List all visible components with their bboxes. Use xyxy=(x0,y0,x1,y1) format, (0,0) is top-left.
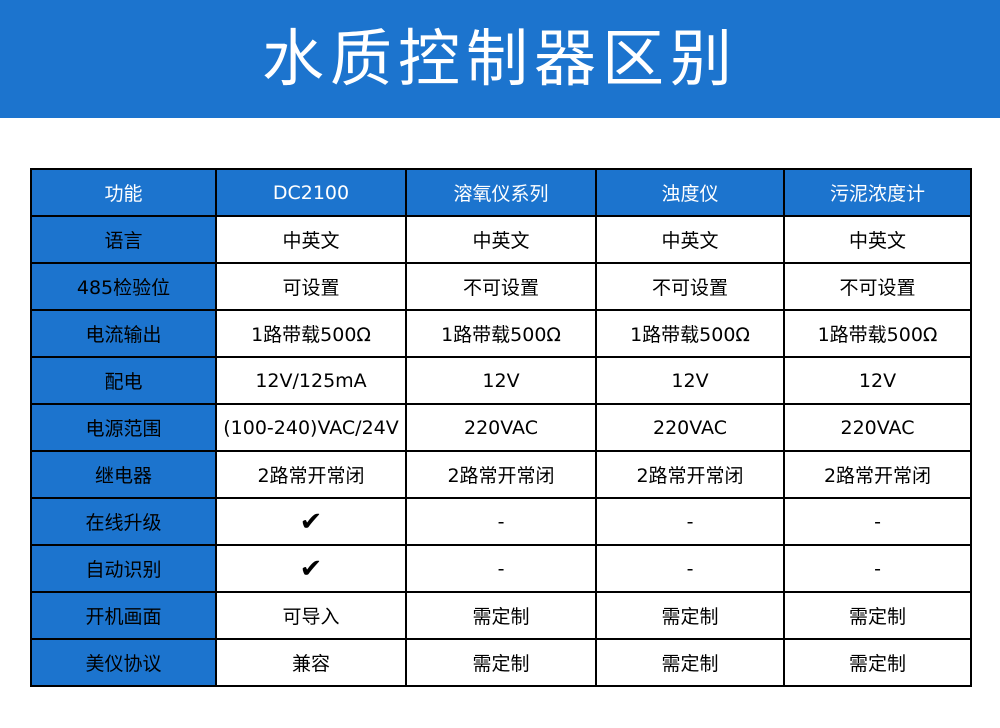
checkmark-icon: ✔ xyxy=(300,556,323,582)
column-header-dc2100: DC2100 xyxy=(216,169,406,216)
table-row: 配电 12V/125mA 12V 12V 12V xyxy=(31,357,971,404)
column-header-do-meter: 溶氧仪系列 xyxy=(406,169,596,216)
row-label-power-distribution: 配电 xyxy=(31,357,216,404)
dash-placeholder: - xyxy=(874,511,881,533)
cell-current-output-sludge: 1路带载500Ω xyxy=(784,310,971,357)
cell-auto-recognition-turbidity: - xyxy=(596,545,784,592)
spec-table-container: 功能 DC2100 溶氧仪系列 浊度仪 污泥浓度计 语言 中英文 中英文 中英文… xyxy=(30,168,970,687)
table-row: 电源范围 (100-240)VAC/24V 220VAC 220VAC 220V… xyxy=(31,404,971,451)
page-banner: 水质控制器区别 xyxy=(0,0,1000,118)
cell-485-parity-sludge: 不可设置 xyxy=(784,263,971,310)
cell-power-range-turbidity: 220VAC xyxy=(596,404,784,451)
dash-placeholder: - xyxy=(498,511,505,533)
cell-boot-screen-do: 需定制 xyxy=(406,592,596,639)
row-label-current-output: 电流输出 xyxy=(31,310,216,357)
cell-power-range-dc2100: (100-240)VAC/24V xyxy=(216,404,406,451)
column-header-turbidity: 浊度仪 xyxy=(596,169,784,216)
table-body: 语言 中英文 中英文 中英文 中英文 485检验位 可设置 不可设置 不可设置 … xyxy=(31,216,971,686)
cell-boot-screen-turbidity: 需定制 xyxy=(596,592,784,639)
table-row: 在线升级 ✔ - - - xyxy=(31,498,971,545)
row-label-power-range: 电源范围 xyxy=(31,404,216,451)
cell-relay-do: 2路常开常闭 xyxy=(406,451,596,498)
page-root: 水质控制器区别 功能 DC2100 溶氧仪系列 浊度仪 污泥浓度计 xyxy=(0,0,1000,728)
cell-485-parity-dc2100: 可设置 xyxy=(216,263,406,310)
dash-placeholder: - xyxy=(874,558,881,580)
cell-meiyi-protocol-do: 需定制 xyxy=(406,639,596,686)
row-label-relay: 继电器 xyxy=(31,451,216,498)
cell-language-sludge: 中英文 xyxy=(784,216,971,263)
checkmark-icon: ✔ xyxy=(300,509,323,535)
table-row: 开机画面 可导入 需定制 需定制 需定制 xyxy=(31,592,971,639)
cell-language-dc2100: 中英文 xyxy=(216,216,406,263)
cell-power-distribution-do: 12V xyxy=(406,357,596,404)
cell-auto-recognition-sludge: - xyxy=(784,545,971,592)
cell-language-turbidity: 中英文 xyxy=(596,216,784,263)
page-title: 水质控制器区别 xyxy=(262,28,738,90)
table-header: 功能 DC2100 溶氧仪系列 浊度仪 污泥浓度计 xyxy=(31,169,971,216)
cell-boot-screen-sludge: 需定制 xyxy=(784,592,971,639)
table-row: 485检验位 可设置 不可设置 不可设置 不可设置 xyxy=(31,263,971,310)
row-label-online-upgrade: 在线升级 xyxy=(31,498,216,545)
row-label-language: 语言 xyxy=(31,216,216,263)
table-row: 美仪协议 兼容 需定制 需定制 需定制 xyxy=(31,639,971,686)
table-header-row: 功能 DC2100 溶氧仪系列 浊度仪 污泥浓度计 xyxy=(31,169,971,216)
cell-relay-dc2100: 2路常开常闭 xyxy=(216,451,406,498)
cell-meiyi-protocol-turbidity: 需定制 xyxy=(596,639,784,686)
cell-boot-screen-dc2100: 可导入 xyxy=(216,592,406,639)
cell-485-parity-do: 不可设置 xyxy=(406,263,596,310)
cell-online-upgrade-dc2100: ✔ xyxy=(216,498,406,545)
cell-485-parity-turbidity: 不可设置 xyxy=(596,263,784,310)
cell-language-do: 中英文 xyxy=(406,216,596,263)
cell-power-range-do: 220VAC xyxy=(406,404,596,451)
cell-current-output-turbidity: 1路带载500Ω xyxy=(596,310,784,357)
spec-comparison-table: 功能 DC2100 溶氧仪系列 浊度仪 污泥浓度计 语言 中英文 中英文 中英文… xyxy=(30,168,972,687)
table-row: 语言 中英文 中英文 中英文 中英文 xyxy=(31,216,971,263)
cell-relay-turbidity: 2路常开常闭 xyxy=(596,451,784,498)
row-label-485-parity: 485检验位 xyxy=(31,263,216,310)
dash-placeholder: - xyxy=(687,511,694,533)
cell-current-output-do: 1路带载500Ω xyxy=(406,310,596,357)
cell-power-range-sludge: 220VAC xyxy=(784,404,971,451)
column-header-sludge: 污泥浓度计 xyxy=(784,169,971,216)
cell-auto-recognition-dc2100: ✔ xyxy=(216,545,406,592)
cell-meiyi-protocol-dc2100: 兼容 xyxy=(216,639,406,686)
table-row: 自动识别 ✔ - - - xyxy=(31,545,971,592)
cell-power-distribution-turbidity: 12V xyxy=(596,357,784,404)
row-label-boot-screen: 开机画面 xyxy=(31,592,216,639)
cell-auto-recognition-do: - xyxy=(406,545,596,592)
cell-relay-sludge: 2路常开常闭 xyxy=(784,451,971,498)
cell-online-upgrade-do: - xyxy=(406,498,596,545)
row-label-auto-recognition: 自动识别 xyxy=(31,545,216,592)
table-row: 电流输出 1路带载500Ω 1路带载500Ω 1路带载500Ω 1路带载500Ω xyxy=(31,310,971,357)
column-header-feature: 功能 xyxy=(31,169,216,216)
cell-meiyi-protocol-sludge: 需定制 xyxy=(784,639,971,686)
dash-placeholder: - xyxy=(687,558,694,580)
cell-power-distribution-dc2100: 12V/125mA xyxy=(216,357,406,404)
cell-online-upgrade-turbidity: - xyxy=(596,498,784,545)
dash-placeholder: - xyxy=(498,558,505,580)
cell-power-distribution-sludge: 12V xyxy=(784,357,971,404)
row-label-meiyi-protocol: 美仪协议 xyxy=(31,639,216,686)
cell-current-output-dc2100: 1路带载500Ω xyxy=(216,310,406,357)
table-row: 继电器 2路常开常闭 2路常开常闭 2路常开常闭 2路常开常闭 xyxy=(31,451,971,498)
cell-online-upgrade-sludge: - xyxy=(784,498,971,545)
